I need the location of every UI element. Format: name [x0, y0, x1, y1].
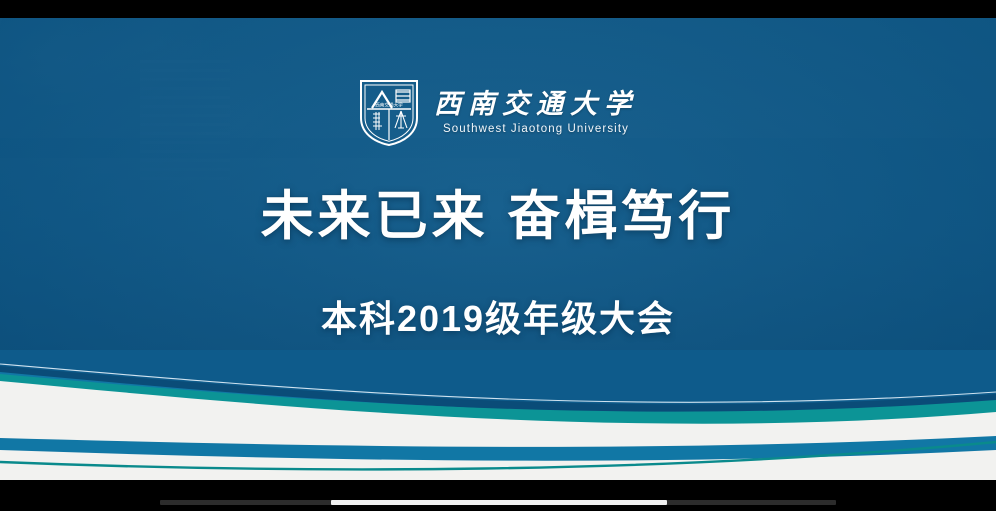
wave-ribbon-graphic [0, 350, 996, 480]
university-name-cn: 西南交通大学 [434, 91, 638, 119]
university-wordmark: 西南交通大学 Southwest Jiaotong University [434, 91, 638, 134]
slide-subhead: 本科2019级年级大会 [0, 290, 996, 342]
university-logo-block: 西南交通大学 西南交通大学 Southwest Jiaotong Univers… [0, 78, 996, 148]
southwest-jiaotong-university-crest-icon: 西南交通大学 [358, 78, 420, 148]
svg-text:西南交通大学: 西南交通大学 [375, 102, 403, 109]
presentation-slide-viewer[interactable]: 西南交通大学 西南交通大学 Southwest Jiaotong Univers… [0, 0, 996, 511]
slide-progress-scrubber[interactable] [160, 500, 836, 505]
slide-headline: 未来已来 奋楫笃行 [0, 186, 996, 247]
scrubber-progress[interactable] [331, 500, 667, 505]
university-name-en: Southwest Jiaotong University [443, 123, 629, 135]
letterbox-bar-bottom [0, 480, 996, 511]
slide-canvas: 西南交通大学 西南交通大学 Southwest Jiaotong Univers… [0, 18, 996, 480]
letterbox-bar-top [0, 0, 996, 18]
